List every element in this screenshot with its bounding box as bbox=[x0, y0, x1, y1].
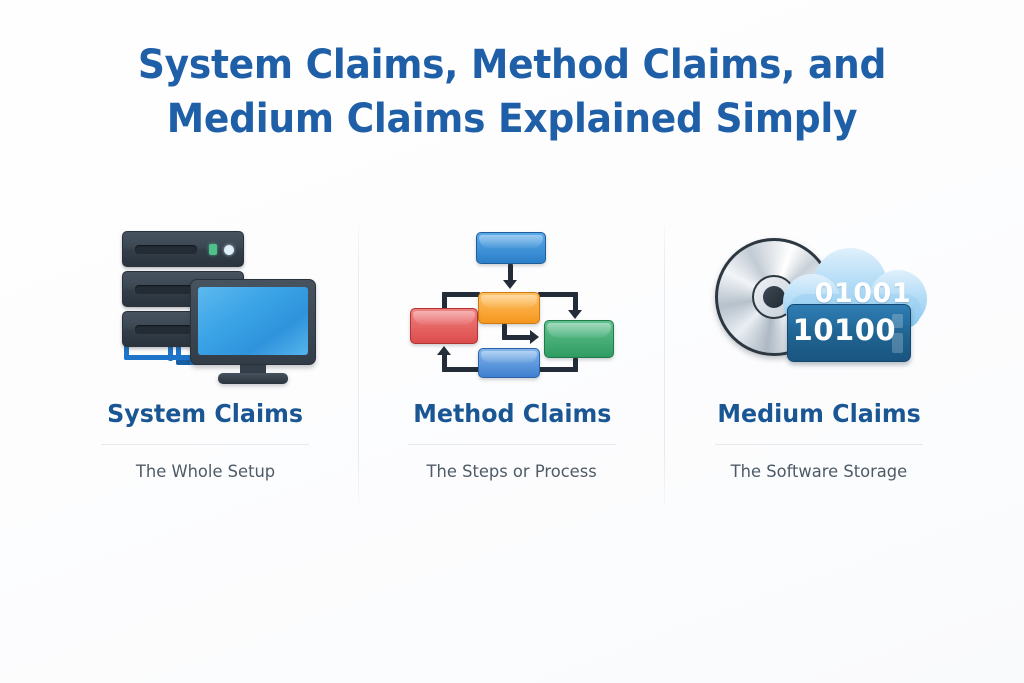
rack-slot bbox=[135, 245, 197, 254]
page-title-line-1: System Claims, Method Claims, and bbox=[31, 38, 994, 92]
disc-cloud-storage-icon: 01001 10100 bbox=[709, 230, 929, 380]
server-rack-unit-1 bbox=[122, 231, 244, 267]
storage-drive-box: 10100 bbox=[787, 304, 911, 362]
column-divider-rule bbox=[715, 444, 923, 445]
flow-line-bottom-left bbox=[442, 367, 480, 372]
led-white-icon bbox=[224, 245, 234, 255]
rack-slot bbox=[135, 285, 197, 294]
column-divider-rule bbox=[408, 444, 616, 445]
medium-claims-icon-area: 01001 10100 bbox=[665, 222, 972, 388]
column-divider-rule bbox=[101, 444, 309, 445]
column-method-claims: Method Claims The Steps or Process bbox=[359, 222, 666, 512]
monitor-base bbox=[218, 373, 288, 384]
column-title-system-claims: System Claims bbox=[107, 398, 303, 430]
flowchart-icon bbox=[408, 230, 616, 380]
flow-arrow-up-red bbox=[437, 346, 451, 355]
cloud-binary-text: 01001 bbox=[815, 278, 911, 310]
flow-box-red bbox=[410, 308, 478, 344]
server-monitor-icon bbox=[94, 229, 316, 381]
flow-box-orange bbox=[478, 292, 540, 324]
claim-columns: System Claims The Whole Setup bbox=[52, 222, 972, 512]
column-subtitle-system-claims: The Whole Setup bbox=[136, 460, 275, 484]
column-medium-claims: 01001 10100 Medium Claims The Software S… bbox=[665, 222, 972, 512]
flow-line-bottom-right bbox=[538, 367, 578, 372]
system-claims-icon-area bbox=[52, 222, 359, 388]
column-title-medium-claims: Medium Claims bbox=[717, 398, 920, 430]
flow-box-blue-bottom bbox=[478, 348, 540, 378]
flow-line-left-up bbox=[442, 354, 447, 372]
disc-hub-hole bbox=[763, 286, 785, 308]
flow-box-blue-top bbox=[476, 232, 546, 264]
flow-box-green bbox=[544, 320, 614, 358]
column-system-claims: System Claims The Whole Setup bbox=[52, 222, 359, 512]
infographic-canvas: System Claims, Method Claims, and Medium… bbox=[0, 0, 1024, 683]
column-title-method-claims: Method Claims bbox=[413, 398, 611, 430]
column-subtitle-method-claims: The Steps or Process bbox=[427, 460, 597, 484]
flow-line-left-top bbox=[442, 292, 480, 297]
flow-arrow-down-top bbox=[503, 280, 517, 289]
flow-arrow-right-green bbox=[530, 330, 539, 344]
monitor-screen bbox=[198, 287, 308, 355]
flow-line-right-top bbox=[538, 292, 578, 297]
flow-arrow-down-green bbox=[568, 310, 582, 319]
led-green-icon bbox=[209, 244, 217, 255]
rack-slot bbox=[135, 325, 197, 334]
page-title-line-2: Medium Claims Explained Simply bbox=[31, 92, 994, 146]
drive-indicator-top bbox=[892, 314, 903, 328]
drive-indicator-bottom bbox=[892, 333, 903, 353]
column-subtitle-medium-claims: The Software Storage bbox=[730, 460, 907, 484]
page-title: System Claims, Method Claims, and Medium… bbox=[0, 38, 1024, 146]
drive-binary-text: 10100 bbox=[793, 313, 896, 347]
monitor-icon bbox=[190, 279, 316, 365]
method-claims-icon-area bbox=[359, 222, 666, 388]
